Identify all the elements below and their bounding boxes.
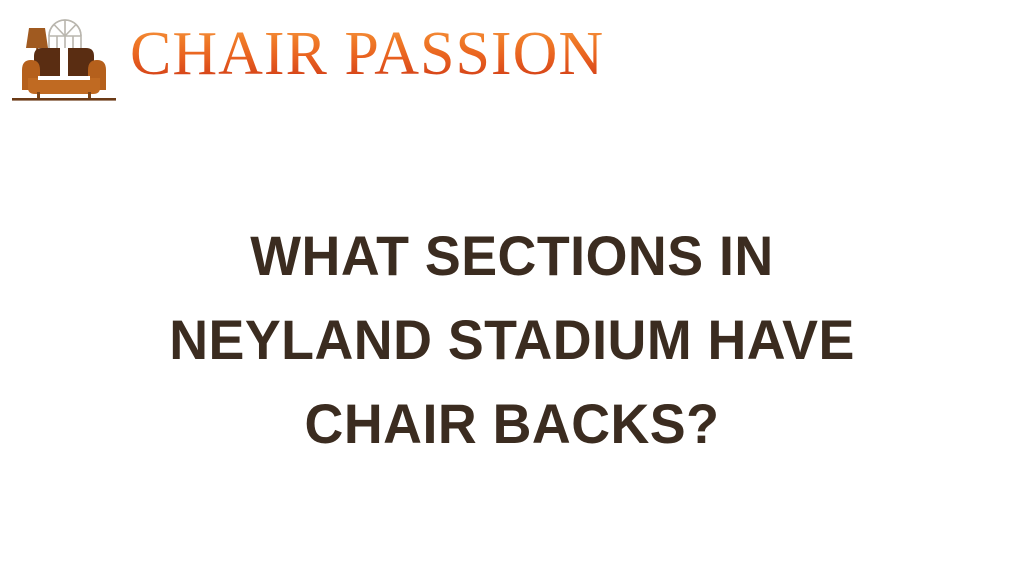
page-root: CHAIR PASSION WHAT SECTIONS IN NEYLAND S… [0,0,1024,576]
brand-header[interactable]: CHAIR PASSION [8,2,604,106]
page-title: WHAT SECTIONS IN NEYLAND STADIUM HAVE CH… [0,214,1024,466]
sofa-icon [12,48,116,101]
brand-wordmark: CHAIR PASSION [130,23,604,85]
page-title-line-3: CHAIR BACKS? [20,382,1003,466]
page-title-line-2: NEYLAND STADIUM HAVE [20,298,1003,382]
page-title-line-1: WHAT SECTIONS IN [20,214,1003,298]
sofa-lamp-window-logo-icon [8,4,120,104]
